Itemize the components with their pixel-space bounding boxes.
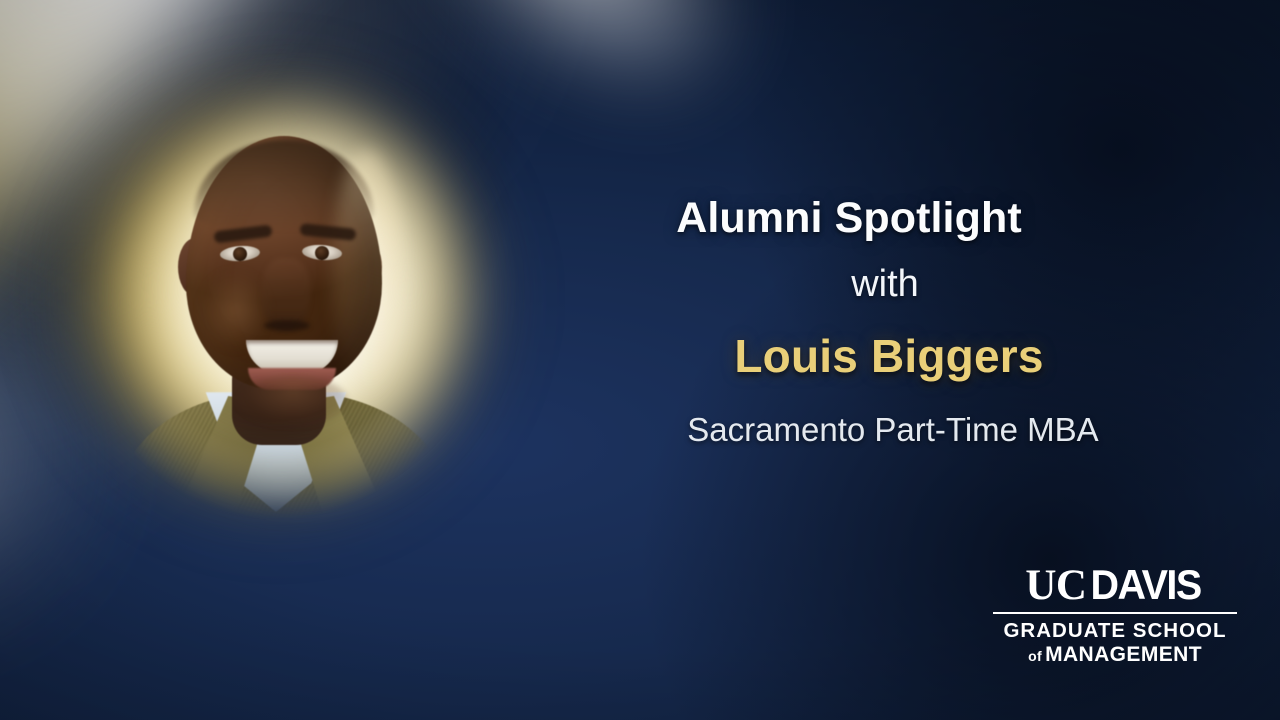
- portrait-nostrils: [264, 320, 310, 331]
- title-card-slide: Alumni Spotlight with Louis Biggers Sacr…: [0, 0, 1280, 720]
- title-text-block: Alumni Spotlight with Louis Biggers Sacr…: [560, 196, 1220, 446]
- logo-of-text: of: [1028, 648, 1042, 664]
- logo-management-text: MANAGEMENT: [1045, 643, 1202, 666]
- alumni-name: Louis Biggers: [558, 333, 1220, 379]
- portrait-rim-light: [332, 150, 402, 400]
- logo-management-line: ofMANAGEMENT: [993, 643, 1237, 667]
- portrait-cheek-highlight: [200, 270, 270, 350]
- logo-uc-text: UC: [1025, 564, 1086, 607]
- logo-divider-rule: [993, 612, 1237, 614]
- uc-davis-gsm-logo: UCDAVIS GRADUATE SCHOOL ofMANAGEMENT: [993, 564, 1237, 666]
- portrait-chin: [238, 376, 348, 426]
- slide-connector: with: [550, 265, 1220, 303]
- portrait-photo: [0, 40, 620, 600]
- logo-davis-text: DAVIS: [1091, 564, 1201, 606]
- slide-heading: Alumni Spotlight: [478, 196, 1220, 241]
- logo-wordmark: UCDAVIS: [993, 564, 1237, 607]
- logo-graduate-school-text: GRADUATE SCHOOL: [993, 620, 1237, 643]
- program-subtitle: Sacramento Part-Time MBA: [566, 413, 1220, 446]
- portrait-region: [0, 40, 620, 600]
